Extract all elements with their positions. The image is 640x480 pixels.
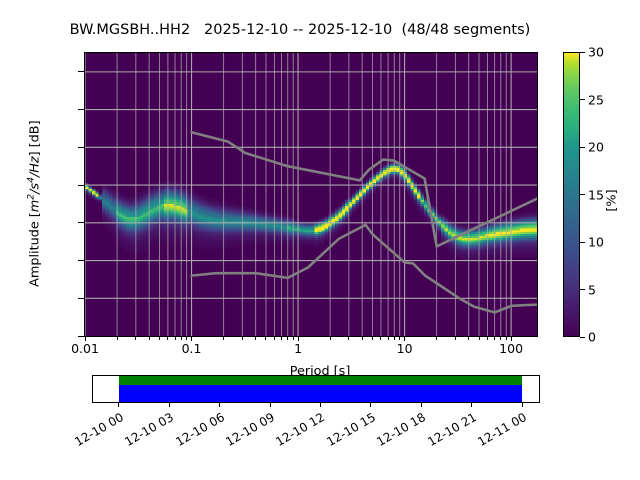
timeline-tick-mark	[522, 403, 523, 407]
y-axis-label: Amplitude [m2/s4/Hz] [dB]	[25, 74, 42, 334]
density-histogram-layer	[85, 161, 537, 261]
timeline-tick-label: 12-10 03	[119, 410, 176, 451]
x-tick-label: 0.1	[182, 341, 202, 356]
x-tick-minor-mark	[135, 337, 136, 340]
colorbar-tick-mark	[580, 99, 585, 100]
colorbar-tick-label: 20	[588, 140, 604, 155]
x-tick-minor-mark	[399, 337, 400, 340]
x-tick-minor-mark	[468, 337, 469, 340]
ppsd-plot-figure: BW.MGSBH..HH2 2025-12-10 -- 2025-12-10 (…	[0, 0, 640, 480]
x-tick-minor-mark	[223, 337, 224, 340]
x-tick-minor-mark	[255, 337, 256, 340]
x-tick-minor-mark	[394, 337, 395, 340]
y-tick-mark	[78, 71, 84, 72]
ppsd-density-plot	[85, 53, 537, 336]
colorbar-tick-label: 25	[588, 92, 604, 107]
x-tick-label: 1	[294, 341, 302, 356]
x-tick-minor-mark	[242, 337, 243, 340]
x-tick-minor-mark	[181, 337, 182, 340]
x-tick-minor-mark	[274, 337, 275, 340]
timeline-tick-label: 12-10 12	[270, 410, 327, 451]
x-tick-minor-mark	[159, 337, 160, 340]
x-tick-minor-mark	[380, 337, 381, 340]
colorbar-tick-label: 0	[588, 330, 596, 345]
timeline-bar-psd-segments	[119, 385, 522, 402]
colorbar-tick-mark	[580, 147, 585, 148]
x-tick-minor-mark	[265, 337, 266, 340]
x-tick-minor-mark	[293, 337, 294, 340]
colorbar-tick-label: 10	[588, 235, 604, 250]
x-tick-label: 100	[499, 341, 523, 356]
timeline-tick-label: 12-10 00	[69, 410, 126, 451]
y-tick-mark	[78, 185, 84, 186]
x-tick-minor-mark	[330, 337, 331, 340]
y-tick-mark	[78, 260, 84, 261]
colorbar	[563, 52, 580, 337]
x-tick-minor-mark	[186, 337, 187, 340]
x-tick-minor-mark	[167, 337, 168, 340]
x-tick-minor-mark	[362, 337, 363, 340]
timeline-tick-mark	[169, 403, 170, 407]
timeline-axes	[92, 375, 540, 403]
x-tick-minor-mark	[487, 337, 488, 340]
x-tick-minor-mark	[494, 337, 495, 340]
x-tick-minor-mark	[455, 337, 456, 340]
x-tick-minor-mark	[500, 337, 501, 340]
x-tick-minor-mark	[287, 337, 288, 340]
colorbar-tick-mark	[580, 52, 585, 53]
timeline-tick-label: 12-10 18	[371, 410, 428, 451]
timeline-tick-label: 12-10 09	[220, 410, 277, 451]
x-tick-minor-mark	[175, 337, 176, 340]
colorbar-label: [%]	[605, 161, 620, 241]
colorbar-tick-label: 30	[588, 45, 604, 60]
x-tick-minor-mark	[388, 337, 389, 340]
x-tick-label: 0.01	[71, 341, 99, 356]
colorbar-tick-label: 5	[588, 282, 596, 297]
timeline-bar-data-coverage	[119, 376, 522, 385]
x-tick-minor-mark	[506, 337, 507, 340]
ppsd-density-svg	[85, 53, 537, 336]
y-tick-mark	[78, 336, 84, 337]
figure-title: BW.MGSBH..HH2 2025-12-10 -- 2025-12-10 (…	[0, 22, 600, 38]
y-tick-mark	[78, 147, 84, 148]
colorbar-tick-mark	[580, 337, 585, 338]
x-tick-minor-mark	[117, 337, 118, 340]
x-tick-label: 10	[397, 341, 413, 356]
ppsd-axes	[84, 52, 538, 337]
y-tick-mark	[78, 109, 84, 110]
colorbar-tick-mark	[580, 242, 585, 243]
timeline-tick-mark	[421, 403, 422, 407]
timeline-tick-mark	[370, 403, 371, 407]
x-tick-minor-mark	[348, 337, 349, 340]
timeline-tick-label: 12-10 15	[321, 410, 378, 451]
colorbar-tick-mark	[580, 194, 585, 195]
colorbar-tick-mark	[580, 289, 585, 290]
colorbar-tick-label: 15	[588, 187, 604, 202]
timeline-tick-label: 12-10 21	[421, 410, 478, 451]
x-tick-minor-mark	[281, 337, 282, 340]
x-tick-minor-mark	[149, 337, 150, 340]
timeline-tick-mark	[471, 403, 472, 407]
timeline-tick-mark	[320, 403, 321, 407]
timeline-tick-label: 12-10 06	[169, 410, 226, 451]
x-tick-minor-mark	[479, 337, 480, 340]
timeline-tick-mark	[219, 403, 220, 407]
timeline-tick-label: 12-11 00	[472, 410, 529, 451]
timeline-tick-mark	[270, 403, 271, 407]
x-tick-minor-mark	[372, 337, 373, 340]
x-tick-minor-mark	[436, 337, 437, 340]
timeline-tick-mark	[118, 403, 119, 407]
y-tick-mark	[78, 298, 84, 299]
y-tick-mark	[78, 222, 84, 223]
